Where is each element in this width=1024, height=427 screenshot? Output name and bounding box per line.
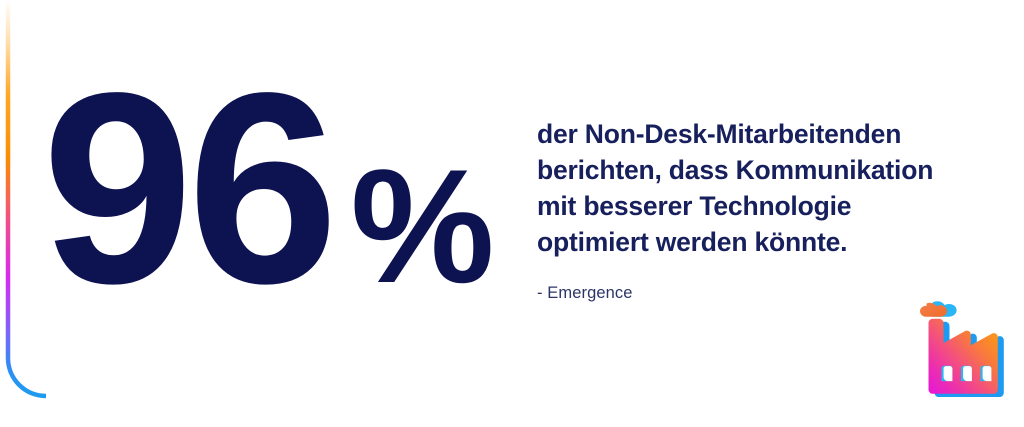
stat-card: 96 % der Non-Desk-Mitarbeitenden bericht… <box>0 0 1024 427</box>
factory-icon-svg <box>912 292 1016 410</box>
quote-line-4: optimiert werden könnte. <box>537 224 967 260</box>
factory-window-3 <box>983 366 992 381</box>
stat-value-block: 96 % <box>42 72 493 343</box>
quote-source: - Emergence <box>537 282 967 304</box>
quote-line-3: mit besserer Technologie <box>537 188 967 224</box>
quote-line-2: berichten, dass Kommunikation <box>537 152 967 188</box>
factory-window-1 <box>944 366 953 381</box>
quote-text: der Non-Desk-Mitarbeitenden berichten, d… <box>537 116 967 260</box>
factory-icon <box>912 292 1016 410</box>
quote-block: der Non-Desk-Mitarbeitenden berichten, d… <box>537 116 967 304</box>
stat-number: 96 <box>42 72 333 304</box>
border-left-edge <box>8 0 46 396</box>
quote-line-1: der Non-Desk-Mitarbeitenden <box>537 116 967 152</box>
factory-window-2 <box>963 366 972 381</box>
factory-body <box>929 319 998 394</box>
percent-sign-icon: % <box>351 111 493 343</box>
